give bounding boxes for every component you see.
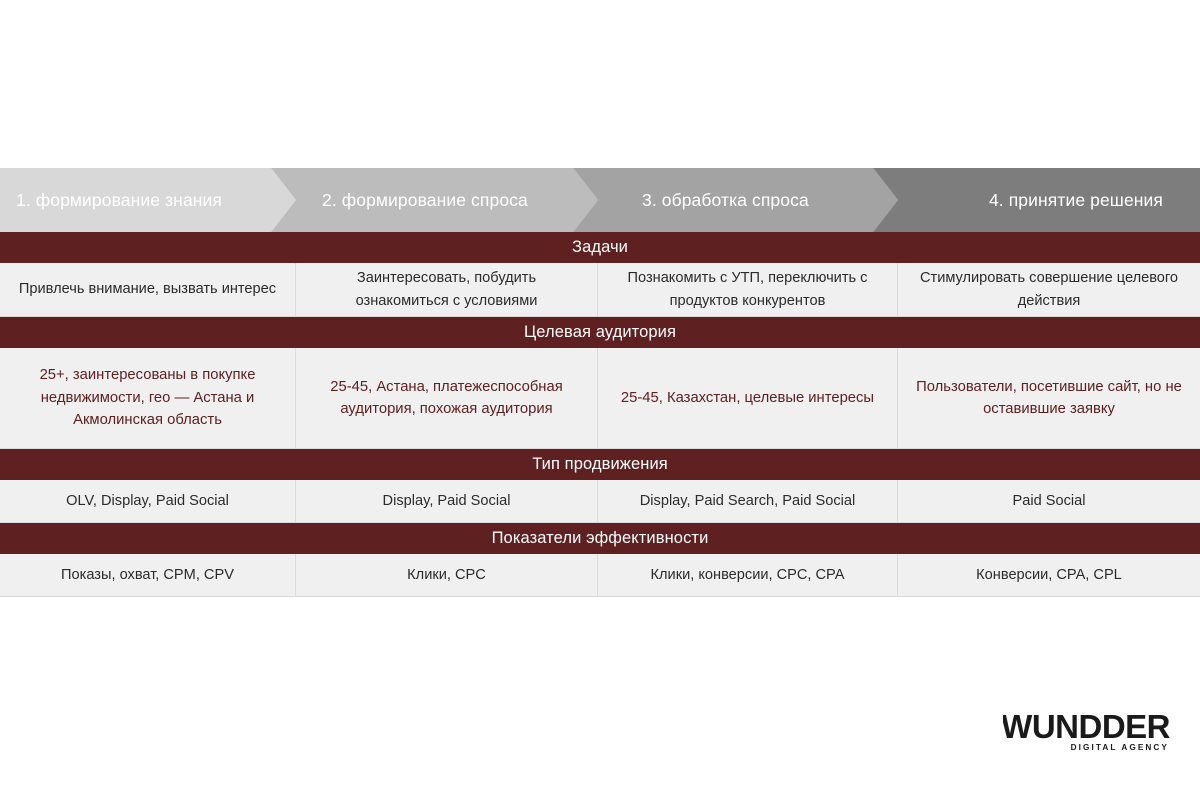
table-cell: Display, Paid Search, Paid Social <box>598 480 898 522</box>
table-cell: Display, Paid Social <box>296 480 598 522</box>
table-cell: Paid Social <box>898 480 1200 522</box>
table-cell: Клики, CPC <box>296 554 598 596</box>
section-header-channels: Тип продвижения <box>0 449 1200 480</box>
wundder-logo-mark: WUNDDER DIGITAL AGENCY <box>1003 704 1170 752</box>
section-header-audience: Целевая аудитория <box>0 317 1200 348</box>
section-row-audience: 25+, заинтересованы в покупке недвижимос… <box>0 348 1200 449</box>
section-row-tasks: Привлечь внимание, вызвать интерес Заинт… <box>0 263 1200 317</box>
table-cell: Стимулировать совершение целевого действ… <box>898 263 1200 316</box>
table-cell: 25-45, Казахстан, целевые интересы <box>598 348 898 448</box>
table-cell: Показы, охват, CPM, CPV <box>0 554 296 596</box>
table-cell: Заинтересовать, побудить ознакомиться с … <box>296 263 598 316</box>
section-header-tasks: Задачи <box>0 232 1200 263</box>
table-cell: Привлечь внимание, вызвать интерес <box>0 263 296 316</box>
logo-tagline: DIGITAL AGENCY <box>1071 743 1169 752</box>
table-cell: Познакомить с УТП, переключить с продукт… <box>598 263 898 316</box>
table-cell: Конверсии, CPA, CPL <box>898 554 1200 596</box>
table-cell: 25-45, Астана, платежеспособная аудитори… <box>296 348 598 448</box>
section-row-channels: OLV, Display, Paid Social Display, Paid … <box>0 480 1200 523</box>
table-cell: Клики, конверсии, CPC, CPA <box>598 554 898 596</box>
table-cell: OLV, Display, Paid Social <box>0 480 296 522</box>
section-row-metrics: Показы, охват, CPM, CPV Клики, CPC Клики… <box>0 554 1200 597</box>
funnel-stage-header: 1. формирование знания 2. формирование с… <box>0 168 1200 232</box>
table-cell: 25+, заинтересованы в покупке недвижимос… <box>0 348 296 448</box>
funnel-stage-3-label: 3. обработка спроса <box>598 168 898 232</box>
table-cell: Пользователи, посетившие сайт, но не ост… <box>898 348 1200 448</box>
logo-wordmark-text: WUNDDER <box>1003 708 1170 745</box>
funnel-matrix: Задачи Привлечь внимание, вызвать интере… <box>0 232 1200 597</box>
section-header-metrics: Показатели эффективности <box>0 523 1200 554</box>
wundder-logo: WUNDDER DIGITAL AGENCY <box>1003 704 1170 752</box>
funnel-stage-1-label: 1. формирование знания <box>0 168 296 232</box>
funnel-stage-2-label: 2. формирование спроса <box>296 168 598 232</box>
funnel-stage-4-label: 4. принятие решения <box>898 168 1200 232</box>
